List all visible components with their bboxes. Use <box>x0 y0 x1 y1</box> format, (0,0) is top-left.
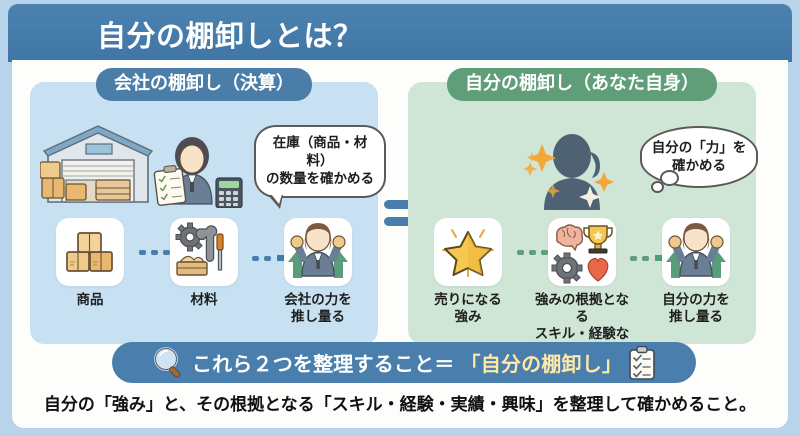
infographic-poster: 自分の棚卸しとは？ 会社の棚卸し（決算） <box>0 0 800 436</box>
right-item-self-power: 自分の力を 推し量る <box>648 218 744 326</box>
right-thought-bubble: 自分の「力」を 確かめる <box>640 126 758 188</box>
dot <box>517 250 524 255</box>
cardboard-boxes-tile <box>56 218 124 286</box>
left-speech-bubble: 在庫（商品・材料） の数量を確かめる <box>254 125 386 198</box>
flexing-person-icon <box>284 218 352 286</box>
body-card: 会社の棚卸し（決算） <box>12 60 788 428</box>
left-bubble-line2: の数量を確かめる <box>265 170 375 188</box>
gold-star-tile <box>434 218 502 286</box>
summary-banner: これら２つを整理すること＝ 「自分の棚卸し」 <box>112 342 696 383</box>
magnifier-icon <box>152 346 186 380</box>
flexing-person-tile <box>662 218 730 286</box>
right-panel-title-pill: 自分の棚卸し（あなた自身） <box>447 68 717 101</box>
summary-highlight: 「自分の棚卸し」 <box>461 348 623 377</box>
dot <box>630 256 637 261</box>
left-item-products-label: 商品 <box>42 292 138 309</box>
left-item-company-power: 会社の力を 推し量る <box>270 218 366 326</box>
flexing-person-icon <box>662 218 730 286</box>
right-item-row: 売りになる 強み <box>418 218 746 336</box>
left-item-company-power-label: 会社の力を 推し量る <box>270 292 366 326</box>
dot <box>139 250 146 255</box>
right-panel-self-inventory: 自分の棚卸し（あなた自身） <box>408 82 756 344</box>
right-item-strength-label: 売りになる 強み <box>420 292 516 326</box>
tools-materials-icon <box>170 218 238 286</box>
materials-crate-icon <box>177 256 207 275</box>
screwdriver-icon <box>217 234 223 270</box>
clipboard-icon <box>154 165 186 205</box>
silhouette-scene <box>508 122 638 210</box>
left-item-materials: 材料 <box>156 218 252 309</box>
gear-icon <box>552 253 582 283</box>
right-item-skills: 強みの根拠となる スキル・経験など <box>534 218 630 360</box>
dot <box>252 256 259 261</box>
left-item-materials-label: 材料 <box>156 292 252 309</box>
left-bubble-line1: 在庫（商品・材料） <box>265 134 375 170</box>
header-bar: 自分の棚卸しとは？ <box>8 4 792 62</box>
tools-materials-tile <box>170 218 238 286</box>
thought-bubble-dot-small <box>651 181 664 193</box>
left-item-products: 商品 <box>42 218 138 309</box>
heart-icon <box>588 258 607 281</box>
brain-trophy-gear-heart-icon <box>548 218 616 286</box>
gold-star-icon <box>434 218 502 286</box>
left-item-row: 商品 <box>40 218 368 336</box>
trophy-icon <box>584 226 612 253</box>
skills-evidence-tile <box>548 218 616 286</box>
calculator-icon <box>216 178 242 208</box>
right-bubble-line1: 自分の「力」を <box>650 139 748 157</box>
left-panel-company-inventory: 会社の棚卸し（決算） <box>30 82 378 344</box>
caption-text: 自分の「強み」と、その根拠となる「スキル・経験・実績・興味」を整理して確かめるこ… <box>12 390 788 415</box>
right-item-strength: 売りになる 強み <box>420 218 516 326</box>
left-panel-title-pill: 会社の棚卸し（決算） <box>96 68 312 101</box>
right-item-self-power-label: 自分の力を 推し量る <box>648 292 744 326</box>
cardboard-boxes-icon <box>56 218 124 286</box>
summary-text: これら２つを整理すること＝ <box>192 348 455 377</box>
warehouse-scene <box>40 118 255 208</box>
clipboard-check-icon <box>628 346 656 380</box>
brain-icon <box>557 225 583 250</box>
page-title: 自分の棚卸しとは？ <box>97 13 363 55</box>
flexing-person-tile <box>284 218 352 286</box>
